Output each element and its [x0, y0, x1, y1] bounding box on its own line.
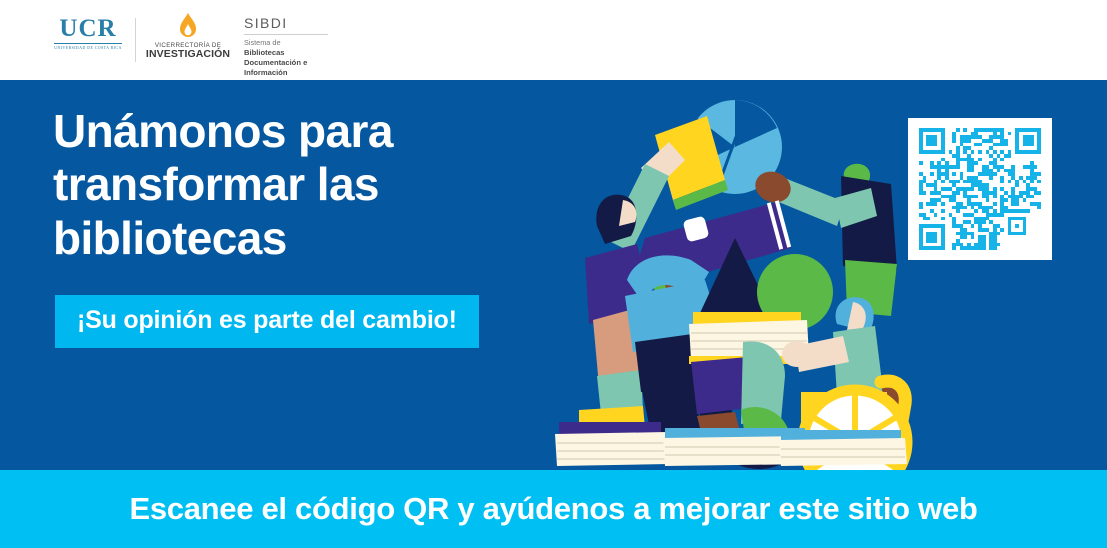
- footer-cta-band: Escanee el código QR y ayúdenos a mejora…: [0, 470, 1107, 548]
- people-building-library-illustration: [545, 80, 925, 470]
- header-logo-bar: UCR UNIVERSIDAD DE COSTA RICA VICERRECTO…: [0, 0, 1107, 80]
- tagline-text: ¡Su opinión es parte del cambio!: [77, 308, 457, 333]
- ucr-logo-subtitle: UNIVERSIDAD DE COSTA RICA: [54, 46, 121, 50]
- ucr-logo-mark: UCR: [59, 16, 116, 41]
- sibdi-rule: [244, 34, 328, 35]
- qr-code-icon[interactable]: [908, 118, 1052, 260]
- headline-line2: transformar las: [53, 158, 379, 210]
- headline-line3: bibliotecas: [53, 212, 287, 264]
- footer-cta-text: Escanee el código QR y ayúdenos a mejora…: [129, 491, 977, 527]
- logo-divider: [135, 18, 136, 62]
- main-blue-area: Unámonos para transformar las biblioteca…: [0, 80, 1107, 470]
- sibdi-line4: Información: [244, 68, 328, 78]
- qr-code-grid: [919, 128, 1041, 250]
- sibdi-logo: SIBDI Sistema de Bibliotecas Documentaci…: [228, 2, 328, 78]
- sibdi-line3: Documentación e: [244, 58, 328, 68]
- sibdi-line1: Sistema de: [244, 38, 328, 48]
- promotional-banner: UCR UNIVERSIDAD DE COSTA RICA VICERRECTO…: [0, 0, 1107, 548]
- ucr-logo-rule: [54, 43, 122, 44]
- tagline-badge: ¡Su opinión es parte del cambio!: [55, 295, 479, 348]
- person-right-standing: [835, 164, 897, 316]
- vicerrectoria-logo: VICERRECTORÍA DE INVESTIGACIÓN: [148, 2, 228, 61]
- flame-icon: [178, 12, 198, 40]
- logo-row: UCR UNIVERSIDAD DE COSTA RICA VICERRECTO…: [0, 2, 328, 78]
- ucr-logo-icon: UCR UNIVERSIDAD DE COSTA RICA: [53, 2, 123, 50]
- sibdi-title: SIBDI: [244, 16, 328, 31]
- page-title: Unámonos para transformar las biblioteca…: [53, 105, 393, 265]
- sibdi-line2: Bibliotecas: [244, 48, 328, 58]
- headline-line1: Unámonos para: [53, 105, 393, 157]
- vicerrectoria-line2: INVESTIGACIÓN: [146, 49, 230, 61]
